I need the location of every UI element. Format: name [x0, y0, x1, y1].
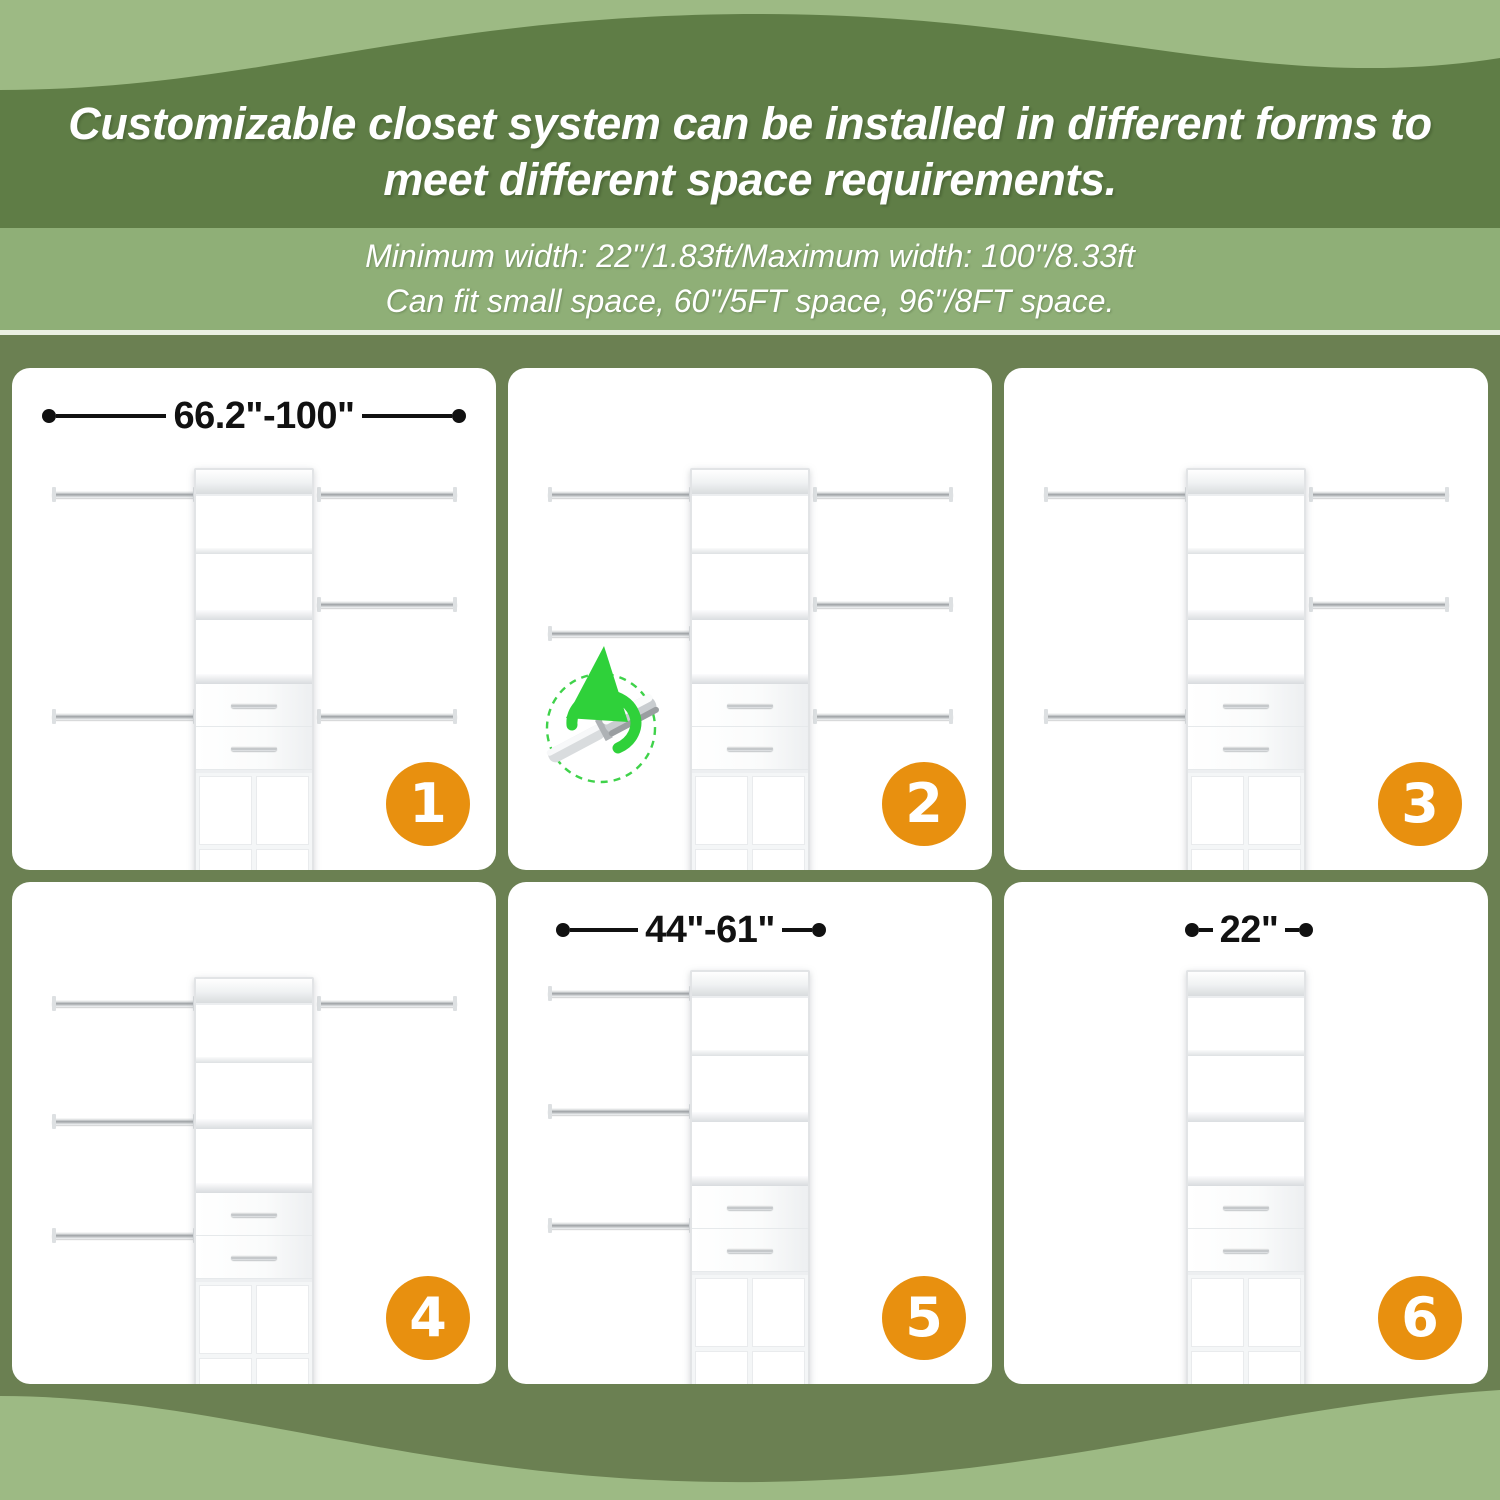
drawer-handle-icon [1223, 703, 1269, 708]
hanging-rod-left-bottom [52, 1232, 197, 1239]
page-title: Customizable closet system can be instal… [0, 96, 1500, 208]
tower-cubby-grid [1188, 770, 1304, 870]
cubby [256, 849, 309, 871]
tower-compartment-2 [692, 554, 808, 620]
rotation-adjustable-icon [526, 640, 676, 790]
closet-tower [690, 468, 810, 870]
hanging-rod-left-top [52, 1000, 197, 1007]
drawer-handle-icon [1223, 1205, 1269, 1210]
hanging-rod-right-bottom [813, 713, 953, 720]
dimension-dot-left [1185, 923, 1199, 937]
hanging-rod-left-mid [52, 1118, 197, 1125]
drawer-handle-icon [1223, 1248, 1269, 1253]
dimension-line-right [362, 414, 452, 418]
hanging-rod-right-top [317, 491, 457, 498]
tower-drawer-lower[interactable] [196, 1236, 312, 1279]
header-divider [0, 330, 1500, 335]
dimension-line-left [1199, 928, 1213, 932]
dimension-line-left [570, 928, 638, 932]
tower-drawer-group [196, 684, 312, 770]
tower-compartment-2 [1188, 554, 1304, 620]
dimension-text: 66.2"-100" [166, 397, 361, 435]
hanging-rod-right-mid [317, 601, 457, 608]
tower-drawer-upper[interactable] [196, 684, 312, 727]
tower-top-shelf [1188, 972, 1304, 998]
tower-compartment-1 [692, 496, 808, 554]
config-panel-2[interactable]: 2 [508, 368, 992, 870]
tower-drawer-upper[interactable] [692, 1186, 808, 1229]
drawer-handle-icon [727, 703, 773, 708]
config-panel-6[interactable]: 22" 6 [1004, 882, 1488, 1384]
cubby [1248, 849, 1301, 871]
hanging-rod-left-top [548, 990, 693, 997]
tower-drawer-upper[interactable] [1188, 684, 1304, 727]
tower-compartment-1 [1188, 998, 1304, 1056]
tower-drawer-group [1188, 1186, 1304, 1272]
tower-compartment-2 [196, 554, 312, 620]
tower-compartment-1 [196, 1005, 312, 1063]
hanging-rod-left-bottom [548, 1222, 693, 1229]
cubby [256, 1285, 309, 1354]
hanging-rod-left-top [52, 491, 197, 498]
hanging-rod-right-top [813, 491, 953, 498]
tower-drawer-lower[interactable] [692, 727, 808, 770]
hanging-rod-right-top [317, 1000, 457, 1007]
hanging-rod-left-top [1044, 491, 1189, 498]
cubby [752, 776, 805, 845]
tower-drawer-group [692, 684, 808, 770]
tower-compartment-3 [1188, 620, 1304, 684]
panel-number-badge: 2 [882, 762, 966, 846]
drawer-handle-icon [231, 746, 277, 751]
tower-drawer-group [196, 1193, 312, 1279]
cubby [1248, 776, 1301, 845]
dimension-line-right [782, 928, 812, 932]
cubby [752, 1278, 805, 1347]
cubby [752, 1351, 805, 1385]
drawer-handle-icon [231, 703, 277, 708]
cubby [256, 776, 309, 845]
hanging-rod-left-mid [548, 1108, 693, 1115]
footer-wave-graphic [0, 1370, 1500, 1500]
dimension-dot-right [452, 409, 466, 423]
panel-number-badge: 1 [386, 762, 470, 846]
cubby [752, 849, 805, 871]
tower-top-shelf [196, 979, 312, 1005]
tower-compartment-2 [692, 1056, 808, 1122]
tower-top-shelf [692, 470, 808, 496]
subtitle-line-1: Minimum width: 22"/1.83ft/Maximum width:… [0, 234, 1500, 278]
hanging-rod-right-mid [1309, 601, 1449, 608]
tower-compartment-2 [1188, 1056, 1304, 1122]
hanging-rod-left-top [548, 491, 693, 498]
config-panel-5[interactable]: 44"-61" [508, 882, 992, 1384]
cubby [256, 1358, 309, 1385]
tower-drawer-group [1188, 684, 1304, 770]
config-panel-1[interactable]: 66.2"-100" [12, 368, 496, 870]
dimension-dot-left [42, 409, 56, 423]
dimension-dot-right [812, 923, 826, 937]
drawer-handle-icon [727, 746, 773, 751]
tower-cubby-grid [692, 770, 808, 870]
drawer-handle-icon [1223, 746, 1269, 751]
tower-drawer-upper[interactable] [692, 684, 808, 727]
hanging-rod-left-mid [548, 630, 693, 637]
cubby [1191, 1351, 1244, 1385]
cubby [695, 776, 748, 845]
cubby [199, 776, 252, 845]
tower-drawer-upper[interactable] [196, 1193, 312, 1236]
tower-cubby-grid [1188, 1272, 1304, 1384]
tower-compartment-1 [196, 496, 312, 554]
tower-cubby-grid [196, 1279, 312, 1384]
dimension-line-left [56, 414, 166, 418]
tower-compartment-3 [196, 620, 312, 684]
panel-number-badge: 4 [386, 1276, 470, 1360]
tower-compartment-3 [1188, 1122, 1304, 1186]
drawer-handle-icon [231, 1255, 277, 1260]
dimension-text: 22" [1213, 911, 1286, 949]
cubby [1248, 1351, 1301, 1385]
tower-compartment-1 [1188, 496, 1304, 554]
tower-cubby-grid [196, 770, 312, 870]
closet-tower [690, 970, 810, 1384]
dimension-label-1: 66.2"-100" [34, 392, 474, 440]
cubby [1191, 776, 1244, 845]
config-panel-3[interactable]: 3 [1004, 368, 1488, 870]
cubby [695, 1278, 748, 1347]
configuration-grid: 66.2"-100" [12, 368, 1488, 1384]
cubby [695, 849, 748, 871]
closet-tower [1186, 468, 1306, 870]
tower-top-shelf [692, 972, 808, 998]
cubby [199, 1285, 252, 1354]
cubby [1191, 1278, 1244, 1347]
hanging-rod-left-bottom [1044, 713, 1189, 720]
cubby [1248, 1278, 1301, 1347]
hanging-rod-right-bottom [317, 713, 457, 720]
drawer-handle-icon [231, 1212, 277, 1217]
tower-compartment-3 [692, 620, 808, 684]
drawer-handle-icon [727, 1248, 773, 1253]
tower-cubby-grid [692, 1272, 808, 1384]
closet-tower [194, 977, 314, 1384]
tower-compartment-3 [196, 1129, 312, 1193]
tower-compartment-2 [196, 1063, 312, 1129]
tower-compartment-3 [692, 1122, 808, 1186]
cubby [1191, 849, 1244, 871]
hanging-rod-right-top [1309, 491, 1449, 498]
tower-compartment-1 [692, 998, 808, 1056]
hanging-rod-right-mid [813, 601, 953, 608]
closet-tower [194, 468, 314, 870]
drawer-handle-icon [727, 1205, 773, 1210]
dimension-label-6: 22" [1169, 906, 1329, 954]
cubby [199, 1358, 252, 1385]
cubby [695, 1351, 748, 1385]
dimension-line-right [1285, 928, 1299, 932]
panel-number-badge: 6 [1378, 1276, 1462, 1360]
dimension-text: 44"-61" [638, 911, 782, 949]
tower-drawer-lower[interactable] [692, 1229, 808, 1272]
tower-drawer-lower[interactable] [1188, 1229, 1304, 1272]
tower-top-shelf [196, 470, 312, 496]
cubby [199, 849, 252, 871]
dimension-dot-left [556, 923, 570, 937]
tower-top-shelf [1188, 470, 1304, 496]
dimension-label-5: 44"-61" [546, 906, 836, 954]
tower-drawer-group [692, 1186, 808, 1272]
panel-number-badge: 5 [882, 1276, 966, 1360]
dimension-dot-right [1299, 923, 1313, 937]
subtitle-line-2: Can fit small space, 60"/5FT space, 96"/… [0, 279, 1500, 323]
hanging-rod-left-bottom [52, 713, 197, 720]
panel-number-badge: 3 [1378, 762, 1462, 846]
tower-drawer-upper[interactable] [1188, 1186, 1304, 1229]
closet-tower [1186, 970, 1306, 1384]
tower-drawer-lower[interactable] [196, 727, 312, 770]
config-panel-4[interactable]: 4 [12, 882, 496, 1384]
tower-drawer-lower[interactable] [1188, 727, 1304, 770]
